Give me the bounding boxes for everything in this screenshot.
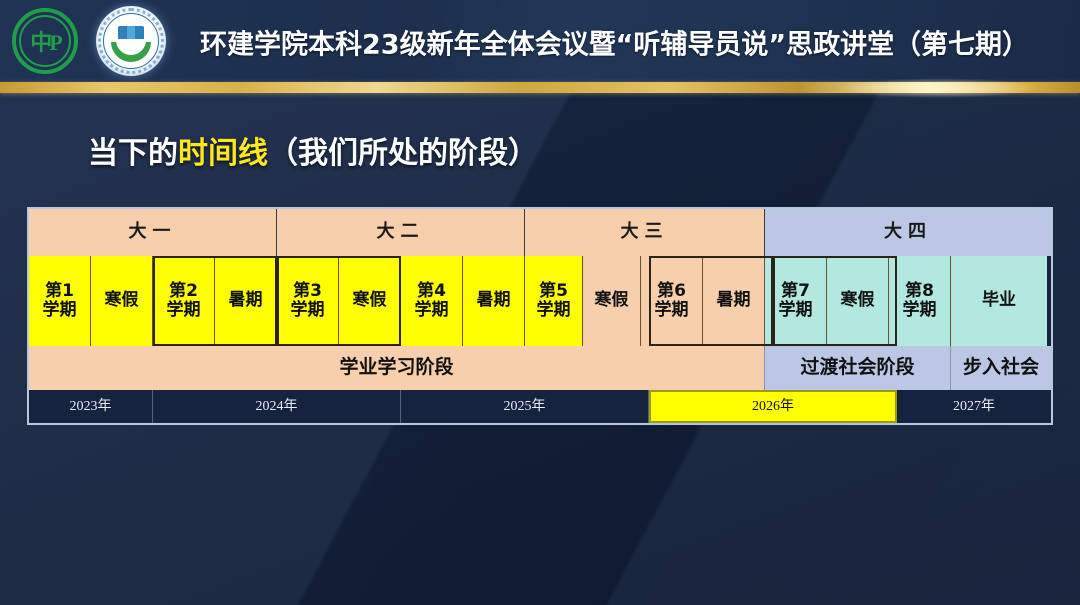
semester-cell-1: 第1学期 xyxy=(29,256,91,346)
semester-cell-8: 暑期 xyxy=(463,256,525,346)
semester-cell-6-line1: 寒假 xyxy=(353,291,387,310)
semester-cell-5-line1: 第3 xyxy=(291,282,325,301)
slide-header: 中P 环建学院本科23级新年全体会议暨“听辅导员说”思政讲堂（第七期） xyxy=(0,0,1080,83)
grade-cell-year4: 大四 xyxy=(765,209,1051,256)
semester-cell-16: 毕业 xyxy=(951,256,1047,346)
semester-cell-3-line2: 学期 xyxy=(167,301,201,320)
semester-cell-3-line1: 第2 xyxy=(167,282,201,301)
semester-cell-5-line2: 学期 xyxy=(291,301,325,320)
subtitle-suffix: （我们所处的阶段） xyxy=(268,136,538,171)
semester-cell-14-line1: 寒假 xyxy=(841,291,875,310)
semester-cell-9: 第5学期 xyxy=(525,256,583,346)
semester-cell-1-line1: 第1 xyxy=(43,282,77,301)
section-subtitle: 当下的时间线（我们所处的阶段） xyxy=(88,128,538,172)
grade-cell-year2: 大二 xyxy=(277,209,525,256)
semester-cell-8-line1: 暑期 xyxy=(477,291,511,310)
year-cell-2023: 2023年 xyxy=(29,390,153,423)
timeline-year-row: 2023年 2024年 2025年 2026年 2027年 xyxy=(29,390,1051,423)
semester-cell-11-line1: 第6 xyxy=(655,282,689,301)
year-cell-2026: 2026年 xyxy=(649,390,897,423)
stage-cell-transition: 过渡社会阶段 xyxy=(765,346,951,390)
semester-cell-9-line1: 第5 xyxy=(537,282,571,301)
year-cell-2025: 2025年 xyxy=(401,390,649,423)
grade-cell-year1: 大一 xyxy=(29,209,277,256)
stage-cell-society: 步入社会 xyxy=(951,346,1051,390)
semester-cell-6: 寒假 xyxy=(339,256,401,346)
semester-cell-16-line1: 毕业 xyxy=(982,291,1016,310)
semester-cell-2-line1: 寒假 xyxy=(105,291,139,310)
semester-cell-13-line1: 第7 xyxy=(779,282,813,301)
semester-cell-5: 第3学期 xyxy=(277,256,339,346)
semester-cell-1-line2: 学期 xyxy=(43,301,77,320)
semester-cell-10: 寒假 xyxy=(583,256,641,346)
semester-cell-4: 暑期 xyxy=(215,256,277,346)
semester-cell-15-line2: 学期 xyxy=(903,301,937,320)
semester-cell-11-line2: 学期 xyxy=(655,301,689,320)
semester-cell-10-line1: 寒假 xyxy=(595,291,629,310)
semester-cell-11: 第6学期 xyxy=(641,256,703,346)
semester-cell-13-line2: 学期 xyxy=(779,301,813,320)
semester-cell-3: 第2学期 xyxy=(153,256,215,346)
green-circular-emblem-logo: 中P xyxy=(12,8,78,74)
timeline-semester-row: 第1学期 寒假 第2学期 暑期 第3学期 寒假 第4学期 暑期 xyxy=(29,256,1051,346)
semester-cell-14: 寒假 xyxy=(827,256,889,346)
year-cell-2027: 2027年 xyxy=(897,390,1051,423)
grade-cell-year3: 大三 xyxy=(525,209,765,256)
gold-divider-bar xyxy=(0,82,1080,93)
semester-cell-13: 第7学期 xyxy=(765,256,827,346)
slide-root: 中P 环建学院本科23级新年全体会议暨“听辅导员说”思政讲堂（第七期） 当下的时… xyxy=(0,0,1080,605)
semester-cell-12-line1: 暑期 xyxy=(717,291,751,310)
timeline-stage-row: 学业学习阶段 过渡社会阶段 步入社会 xyxy=(29,346,1051,390)
page-title: 环建学院本科23级新年全体会议暨“听辅导员说”思政讲堂（第七期） xyxy=(200,22,1029,61)
subtitle-prefix: 当下的 xyxy=(88,136,178,171)
semester-cell-15: 第8学期 xyxy=(889,256,951,346)
semester-cell-4-line1: 暑期 xyxy=(229,291,263,310)
year-cell-2024: 2024年 xyxy=(153,390,401,423)
semester-cell-2: 寒假 xyxy=(91,256,153,346)
semester-cell-7-line1: 第4 xyxy=(415,282,449,301)
timeline-table: 大一 大二 大三 大四 第1学期 寒假 第2学期 暑期 第3学期 寒假 xyxy=(27,207,1053,425)
semester-cell-9-line2: 学期 xyxy=(537,301,571,320)
semester-cell-15-line1: 第8 xyxy=(903,282,937,301)
semester-cell-7: 第4学期 xyxy=(401,256,463,346)
stage-cell-study: 学业学习阶段 xyxy=(29,346,765,390)
semester-cell-12: 暑期 xyxy=(703,256,765,346)
timeline-grade-row: 大一 大二 大三 大四 xyxy=(29,209,1051,256)
university-blue-emblem-logo xyxy=(96,6,166,76)
subtitle-highlight: 时间线 xyxy=(178,136,268,171)
logo-monogram: 中P xyxy=(30,25,59,57)
semester-cell-7-line2: 学期 xyxy=(415,301,449,320)
